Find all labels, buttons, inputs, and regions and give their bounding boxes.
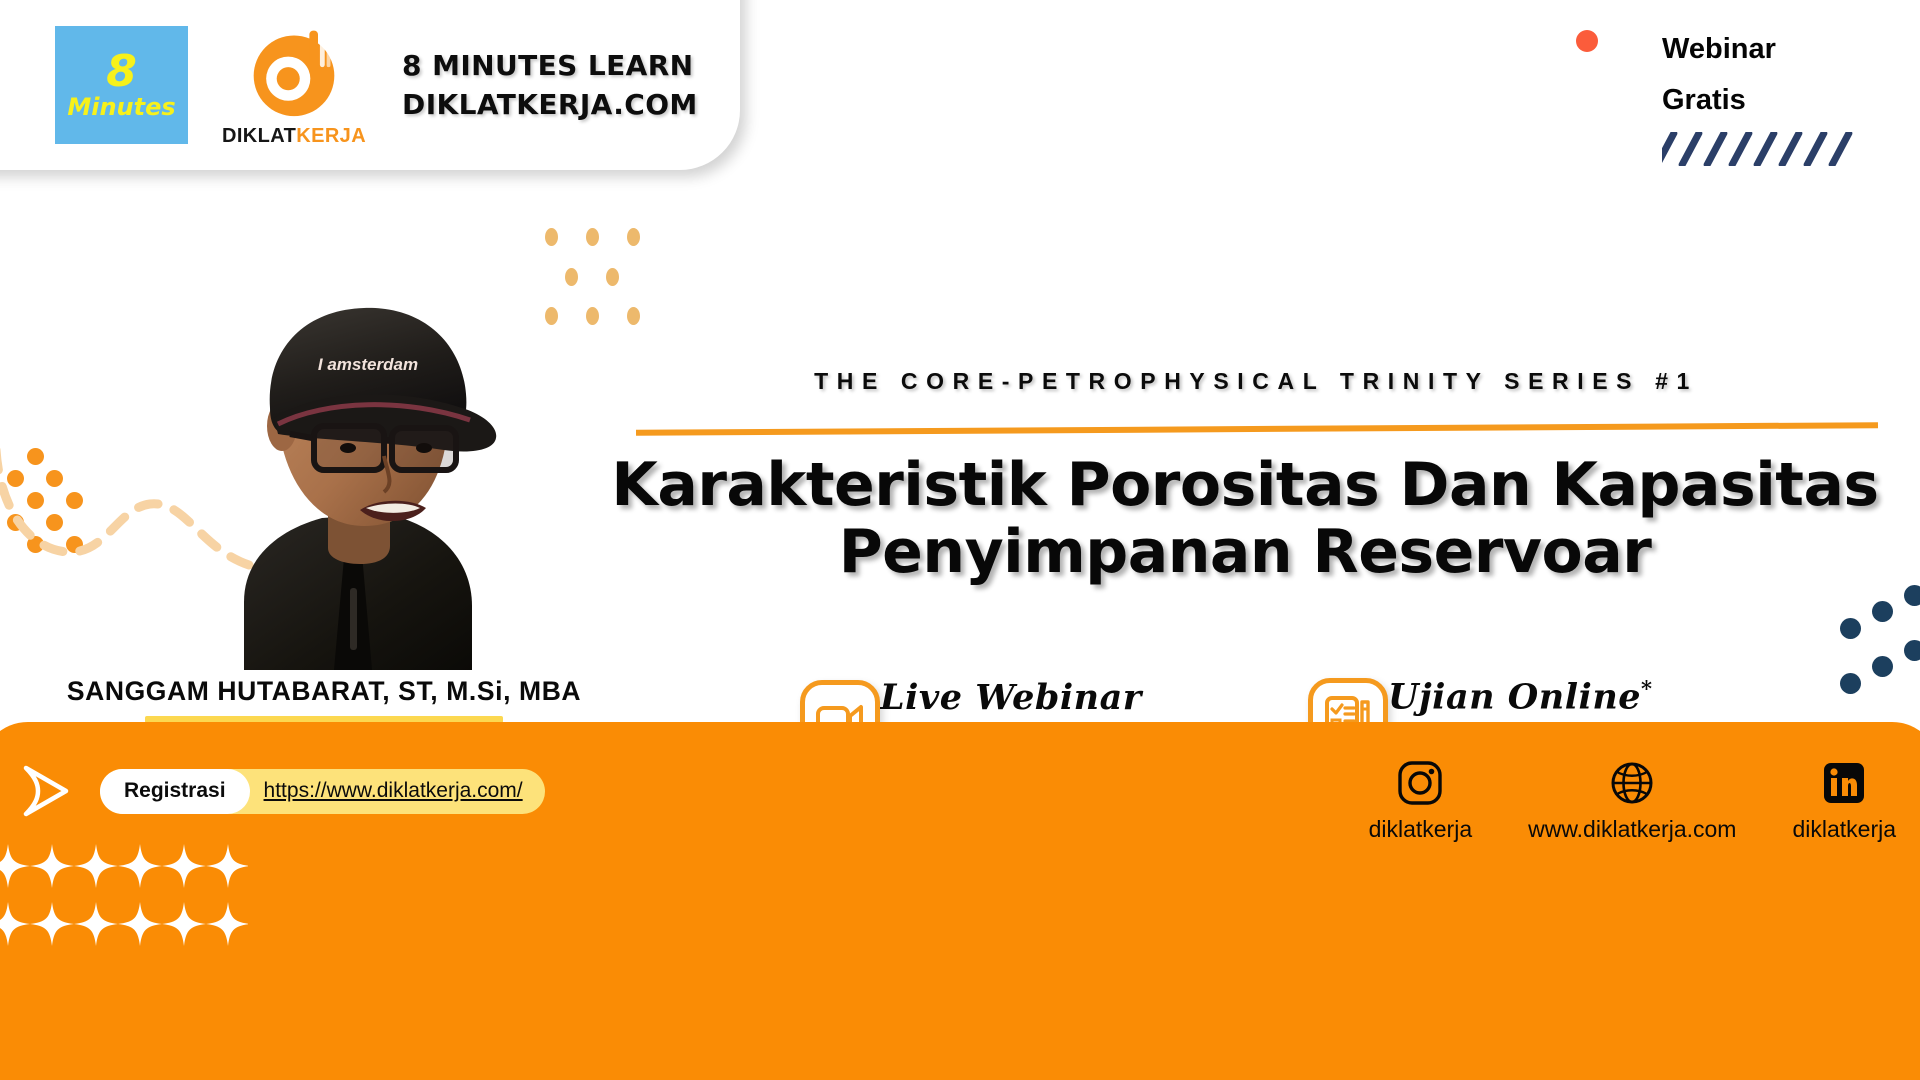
page-title: Karakteristik Porositas Dan Kapasitas Pe… (600, 452, 1890, 586)
send-arrow-icon (18, 764, 72, 818)
website-url: www.diklatkerja.com (1528, 816, 1736, 843)
registration-label: Registrasi (100, 769, 250, 814)
diklatkerja-wordmark: DIKLATKERJA (222, 125, 366, 148)
brand-part-1: DIKLAT (222, 125, 296, 147)
header-line-2: DIKLATKERJA.COM (402, 88, 698, 121)
instagram-handle: diklatkerja (1369, 816, 1473, 843)
coral-dot-decoration (1576, 30, 1598, 52)
brand-part-2: KERJA (296, 125, 366, 147)
registration-row: Registrasi https://www.diklatkerja.com/ (18, 764, 545, 818)
sparkle-pattern-decoration (0, 840, 248, 960)
header-line-1: 8 MINUTES LEARN (402, 49, 698, 82)
speaker-name: SANGGAM HUTABARAT, ST, M.Si, MBA (0, 676, 648, 707)
live-webinar-label: Live Webinar (880, 680, 1256, 715)
social-instagram[interactable]: diklatkerja (1369, 760, 1473, 843)
svg-text:I amsterdam: I amsterdam (318, 355, 418, 374)
navy-dot-grid (1840, 585, 1920, 705)
kicker-divider (636, 422, 1878, 436)
diagonal-stripes-decoration (1662, 132, 1862, 166)
webinar-gratis-tag: Webinar Gratis (1662, 24, 1862, 166)
webinar-gratis-line-1: Webinar (1662, 24, 1862, 75)
webinar-poster: 8 Minutes DIKLATKERJA 8 MINUTES LEARN DI… (0, 0, 1920, 1080)
badge-word: Minutes (67, 95, 175, 119)
social-linkedin[interactable]: diklatkerja (1792, 760, 1896, 843)
globe-icon (1609, 760, 1655, 806)
webinar-gratis-line-2: Gratis (1662, 75, 1862, 126)
linkedin-handle: diklatkerja (1792, 816, 1896, 843)
series-kicker: THE CORE-PETROPHYSICAL TRINITY SERIES #1 (636, 368, 1876, 395)
social-links: diklatkerja www.diklatkerja.com (1369, 760, 1896, 843)
ujian-online-asterisk: * (1641, 676, 1652, 701)
brand-header-card: 8 Minutes DIKLATKERJA 8 MINUTES LEARN DI… (0, 0, 740, 170)
ujian-online-label-text: Ujian Online (1388, 677, 1641, 718)
diklatkerja-logo: DIKLATKERJA (222, 23, 366, 148)
registration-url[interactable]: https://www.diklatkerja.com/ (250, 769, 545, 814)
linkedin-icon (1821, 760, 1867, 806)
instagram-icon (1397, 760, 1443, 806)
peach-dot-grid (545, 228, 655, 328)
ujian-online-label: Ujian Online* (1388, 678, 1708, 715)
footer-bar: Registrasi https://www.diklatkerja.com/ (0, 722, 1920, 1080)
badge-number: 8 (106, 51, 137, 93)
registration-pill[interactable]: Registrasi https://www.diklatkerja.com/ (100, 769, 545, 814)
header-tagline: 8 MINUTES LEARN DIKLATKERJA.COM (402, 49, 698, 121)
eight-minutes-badge: 8 Minutes (55, 26, 188, 144)
diklatkerja-mark-icon (246, 23, 342, 119)
speaker-photo: I amsterdam (186, 258, 526, 670)
social-website[interactable]: www.diklatkerja.com (1528, 760, 1736, 843)
